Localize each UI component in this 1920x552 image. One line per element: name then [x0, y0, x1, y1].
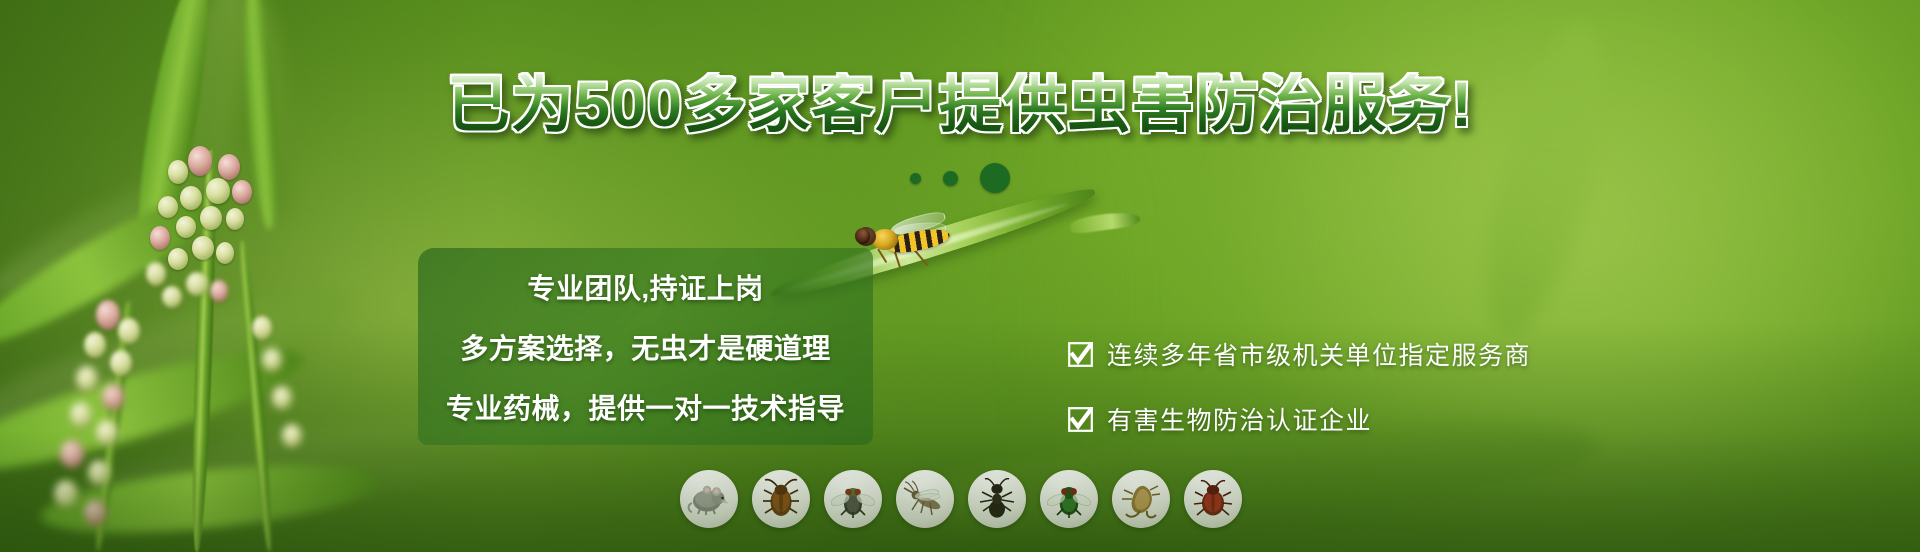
small-dot-icon: [910, 173, 921, 184]
checkbox-checked-icon: [1068, 342, 1093, 367]
checklist-item-label: 连续多年省市级机关单位指定服务商: [1107, 336, 1531, 372]
checklist-item-label: 有害生物防治认证企业: [1107, 401, 1372, 437]
bedbug-icon[interactable]: [1184, 470, 1242, 528]
checkbox-checked-icon: [1068, 407, 1093, 432]
credentials-checklist: 连续多年省市级机关单位指定服务商 有害生物防治认证企业: [1068, 336, 1531, 437]
cockroach-icon[interactable]: [752, 470, 810, 528]
pest-icon-row: [680, 470, 1242, 528]
claim-line-2: 多方案选择，无虫才是硬道理: [460, 327, 831, 367]
hero-banner: 已为500多家客户提供虫害防治服务! 专业团队,持证上岗 多方案选择，无虫才是硬…: [0, 0, 1920, 552]
ant-icon[interactable]: [968, 470, 1026, 528]
mosquito-icon[interactable]: [896, 470, 954, 528]
claim-line-3: 专业药械，提供一对一技术指导: [446, 387, 845, 427]
claims-panel: 专业团队,持证上岗 多方案选择，无虫才是硬道理 专业药械，提供一对一技术指导: [418, 248, 873, 445]
flea-icon[interactable]: [1112, 470, 1170, 528]
decorative-dots: [0, 163, 1920, 193]
checklist-item: 有害生物防治认证企业: [1068, 401, 1531, 437]
page-title: 已为500多家客户提供虫害防治服务!: [447, 74, 1473, 137]
fly-icon[interactable]: [824, 470, 882, 528]
medium-dot-icon: [943, 171, 958, 186]
checklist-item: 连续多年省市级机关单位指定服务商: [1068, 336, 1531, 372]
large-dot-icon: [980, 163, 1010, 193]
headline-wrap: 已为500多家客户提供虫害防治服务!: [0, 74, 1920, 137]
mouse-icon[interactable]: [680, 470, 738, 528]
greenfly-icon[interactable]: [1040, 470, 1098, 528]
claim-line-1: 专业团队,持证上岗: [527, 267, 763, 307]
